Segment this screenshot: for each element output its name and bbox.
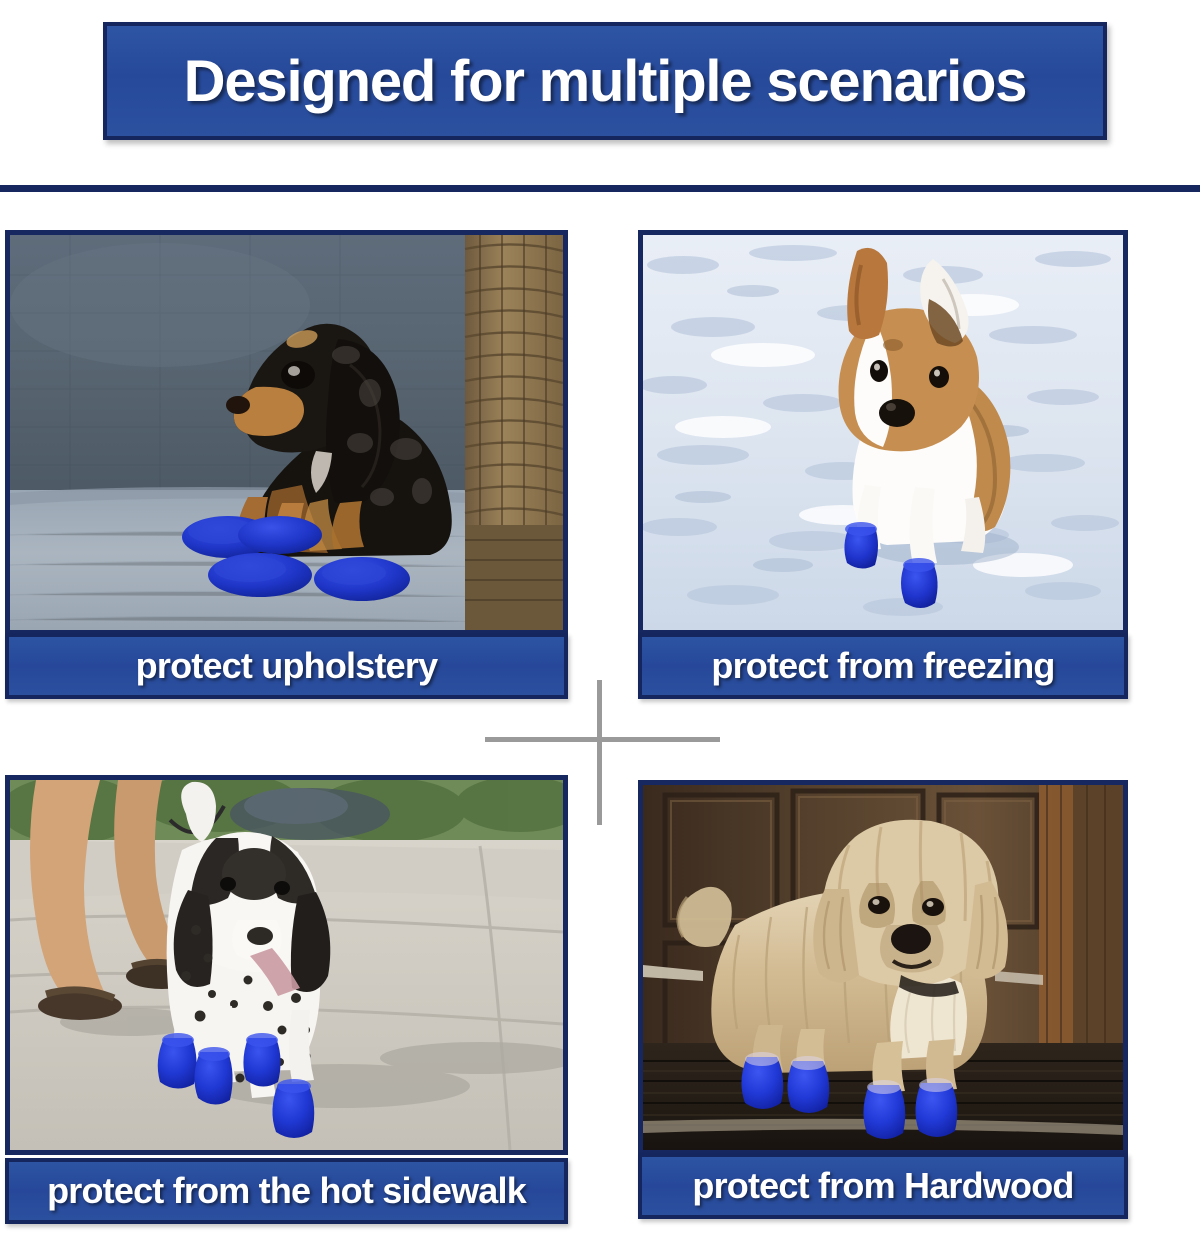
cross-vertical-arm	[597, 680, 602, 825]
header-divider-rule	[0, 185, 1200, 192]
caption-protect-from-hardwood: protect from Hardwood	[638, 1153, 1128, 1219]
scenario-panel-freezing	[638, 230, 1128, 635]
scenario-panel-upholstery	[5, 230, 568, 635]
scenario-panel-hardwood	[638, 780, 1128, 1155]
caption-label: protect upholstery	[136, 645, 438, 687]
page-title: Designed for multiple scenarios	[184, 48, 1027, 115]
caption-protect-from-freezing: protect from freezing	[638, 633, 1128, 699]
caption-label: protect from freezing	[711, 645, 1054, 687]
caption-protect-upholstery: protect upholstery	[5, 633, 568, 699]
caption-label: protect from Hardwood	[692, 1165, 1073, 1207]
caption-label: protect from the hot sidewalk	[47, 1170, 526, 1212]
photo-terrier-in-snow	[643, 235, 1123, 630]
photo-dachshund-on-couch	[10, 235, 563, 630]
header-banner: Designed for multiple scenarios	[103, 22, 1107, 140]
photo-spaniel-on-sidewalk	[10, 780, 563, 1150]
scenario-panel-hot-sidewalk	[5, 775, 568, 1155]
photo-fluffy-dog-on-hardwood	[643, 785, 1123, 1150]
cross-horizontal-arm	[485, 737, 720, 742]
caption-protect-from-hot-sidewalk: protect from the hot sidewalk	[5, 1158, 568, 1224]
